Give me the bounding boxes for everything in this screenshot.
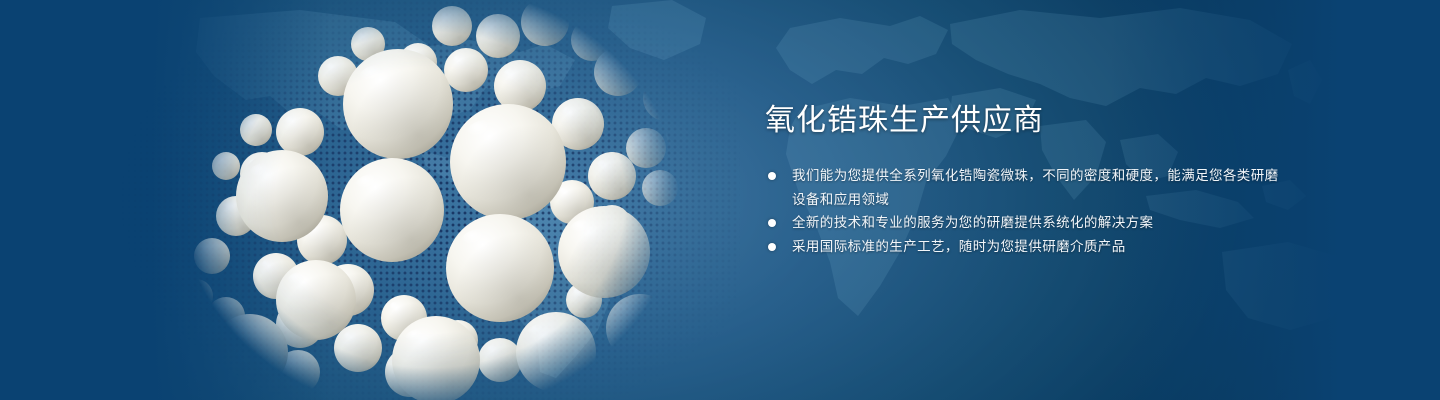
banner-copy: 氧化锆珠生产供应商 我们能为您提供全系列氧化锆陶瓷微珠，不同的密度和硬度，能满足… [764, 104, 1284, 258]
feature-list: 我们能为您提供全系列氧化锆陶瓷微珠，不同的密度和硬度，能满足您各类研磨设备和应用… [764, 164, 1284, 258]
zirconia-beads-image [0, 0, 760, 400]
hero-banner: 氧化锆珠生产供应商 我们能为您提供全系列氧化锆陶瓷微珠，不同的密度和硬度，能满足… [0, 0, 1440, 400]
bullet-dot-icon [768, 243, 776, 251]
bullet-dot-icon [768, 172, 776, 180]
bullet-dot-icon [768, 219, 776, 227]
list-item-label: 采用国际标准的生产工艺，随时为您提供研磨介质产品 [792, 235, 1284, 259]
page-title: 氧化锆珠生产供应商 [765, 104, 1284, 138]
list-item: 我们能为您提供全系列氧化锆陶瓷微珠，不同的密度和硬度，能满足您各类研磨设备和应用… [764, 164, 1284, 211]
list-item-label: 全新的技术和专业的服务为您的研磨提供系统化的解决方案 [792, 211, 1284, 235]
list-item: 采用国际标准的生产工艺，随时为您提供研磨介质产品 [764, 235, 1284, 259]
list-item-label: 我们能为您提供全系列氧化锆陶瓷微珠，不同的密度和硬度，能满足您各类研磨设备和应用… [792, 164, 1284, 211]
list-item: 全新的技术和专业的服务为您的研磨提供系统化的解决方案 [764, 211, 1284, 235]
